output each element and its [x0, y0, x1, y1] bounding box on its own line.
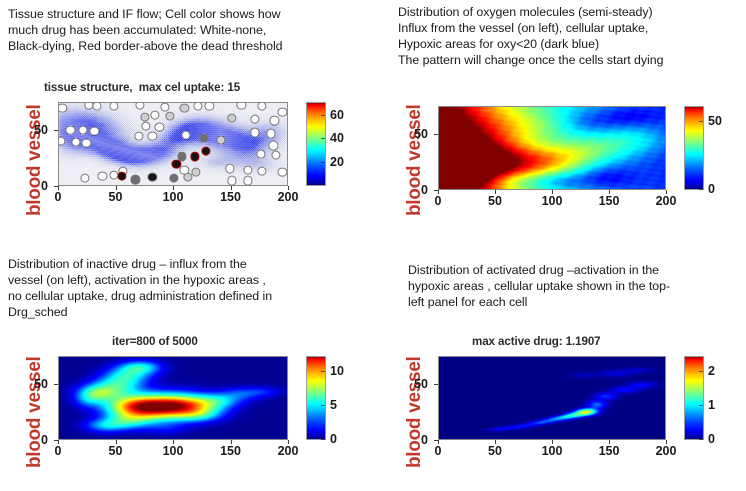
oxygen-heatmap — [439, 107, 665, 189]
x-tick-label: 50 — [488, 194, 502, 208]
figure-sheet: Tissue structure and IF flow; Cell color… — [0, 0, 746, 491]
y-tick-mark — [54, 186, 58, 187]
colorbar-tick-label: 0 — [708, 432, 715, 446]
x-tick-label: 50 — [488, 444, 502, 458]
colorbar-tick-label: 1 — [708, 398, 715, 412]
x-tick-label: 50 — [109, 444, 123, 458]
x-tick-label: 0 — [55, 444, 62, 458]
colorbar-tick-mark — [321, 371, 325, 372]
y-tick-mark — [54, 130, 58, 131]
colorbar-tick-label: 0 — [330, 432, 337, 446]
inactive-drug-title: iter=800 of 5000 — [112, 335, 198, 348]
if-flow-field — [59, 103, 287, 185]
y-tick-mark — [54, 440, 58, 441]
x-tick-label: 200 — [656, 444, 677, 458]
active-drug-heatmap — [439, 357, 665, 439]
panel-inactive-drug: Distribution of inactive drug – influx f… — [0, 250, 380, 491]
colorbar-tick-label: 40 — [330, 131, 344, 145]
colorbar-tick-label: 10 — [330, 364, 344, 378]
y-tick-label: 0 — [41, 433, 48, 447]
y-tick-mark — [54, 384, 58, 385]
y-tick-label: 0 — [41, 179, 48, 193]
tissue-axes — [58, 102, 288, 186]
x-tick-label: 100 — [163, 444, 184, 458]
tissue-figure: tissue structure, max cel uptake: 15 050… — [0, 80, 380, 220]
inactive-drug-heatmap — [59, 357, 287, 439]
x-tick-label: 150 — [599, 444, 620, 458]
y-tick-mark — [434, 190, 438, 191]
tissue-title: tissue structure, max cel uptake: 15 — [44, 81, 240, 94]
colorbar-tick-mark — [699, 371, 703, 372]
colorbar-tick-mark — [321, 115, 325, 116]
colorbar-tick-label: 20 — [330, 155, 344, 169]
x-tick-label: 200 — [656, 194, 677, 208]
panel-oxygen: Distribution of oxygen molecules (semi-s… — [390, 0, 746, 246]
panel-tissue: Tissue structure and IF flow; Cell color… — [0, 0, 380, 246]
x-tick-label: 150 — [599, 194, 620, 208]
panel-active-drug: Distribution of activated drug –activati… — [390, 250, 746, 491]
colorbar-tick-label: 0 — [708, 182, 715, 196]
colorbar-tick-label: 5 — [330, 398, 337, 412]
y-tick-label: 50 — [34, 377, 48, 391]
y-tick-mark — [434, 440, 438, 441]
x-tick-label: 150 — [220, 190, 241, 204]
y-tick-label: 0 — [421, 433, 428, 447]
x-tick-label: 200 — [278, 444, 299, 458]
x-tick-label: 100 — [542, 194, 563, 208]
active-drug-title: max active drug: 1.1907 — [472, 335, 601, 348]
x-tick-label: 100 — [542, 444, 563, 458]
panel-inactive-drug-caption: Distribution of inactive drug – influx f… — [8, 256, 368, 320]
y-tick-label: 50 — [34, 123, 48, 137]
x-tick-label: 200 — [278, 190, 299, 204]
colorbar-tick-mark — [699, 189, 703, 190]
inactive-drug-figure: iter=800 of 5000 050100150200050 0510 — [0, 334, 380, 474]
colorbar-tick-mark — [321, 138, 325, 139]
y-tick-label: 50 — [414, 377, 428, 391]
colorbar-tick-mark — [321, 439, 325, 440]
oxygen-colorbar: 050 — [684, 106, 704, 190]
y-tick-label: 50 — [414, 127, 428, 141]
heatmap-canvas — [59, 357, 287, 439]
colorbar-tick-label: 60 — [330, 108, 344, 122]
oxygen-figure: 050100150200050 050 — [390, 80, 746, 220]
x-tick-label: 0 — [55, 190, 62, 204]
y-tick-label: 0 — [421, 183, 428, 197]
active-drug-colorbar: 012 — [684, 356, 704, 440]
inactive-drug-axes — [58, 356, 288, 440]
panel-active-drug-caption: Distribution of activated drug –activati… — [408, 262, 738, 310]
x-tick-label: 100 — [163, 190, 184, 204]
inactive-drug-colorbar: 0510 — [306, 356, 326, 440]
heatmap-canvas — [439, 357, 665, 439]
colorbar-tick-mark — [699, 121, 703, 122]
active-drug-axes — [438, 356, 666, 440]
y-tick-mark — [434, 134, 438, 135]
panel-tissue-caption: Tissue structure and IF flow; Cell color… — [8, 6, 374, 54]
x-tick-label: 150 — [220, 444, 241, 458]
x-tick-label: 0 — [435, 194, 442, 208]
oxygen-axes — [438, 106, 666, 190]
colorbar-tick-label: 50 — [708, 114, 722, 128]
panel-oxygen-caption: Distribution of oxygen molecules (semi-s… — [398, 4, 746, 68]
tissue-colorbar: 204060 — [306, 102, 326, 186]
heatmap-canvas — [439, 107, 665, 189]
active-drug-figure: max active drug: 1.1907 050100150200050 … — [390, 334, 746, 474]
colorbar-tick-label: 2 — [708, 364, 715, 378]
colorbar-tick-mark — [699, 405, 703, 406]
y-tick-mark — [434, 384, 438, 385]
colorbar-tick-mark — [321, 405, 325, 406]
x-tick-label: 50 — [109, 190, 123, 204]
x-tick-label: 0 — [435, 444, 442, 458]
colorbar-tick-mark — [321, 162, 325, 163]
colorbar-tick-mark — [699, 439, 703, 440]
